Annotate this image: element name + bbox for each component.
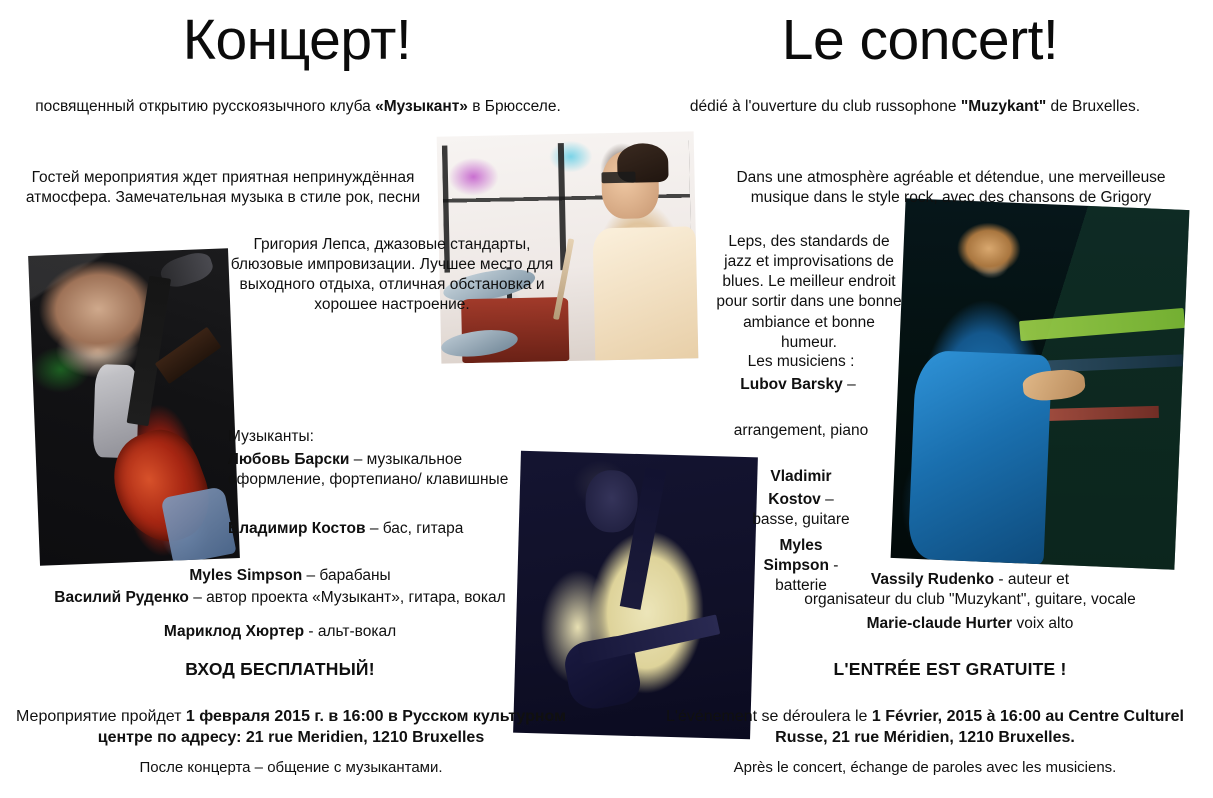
- glasses-shape: [602, 171, 636, 183]
- musician-name: Vladimir: [770, 468, 831, 485]
- musician-name: Vassily Rudenko: [871, 571, 994, 588]
- photo-guitarist: [24, 244, 244, 570]
- musician-role-fr-lubov: arrangement, piano: [706, 421, 896, 441]
- music-paragraph-ru: Григория Лепса, джазовые стандарты, блюз…: [222, 235, 562, 316]
- musician-row-fr-marie: Marie-claude Hurter voix alto: [740, 614, 1200, 634]
- musician-role: – бас, гитара: [370, 520, 464, 537]
- musician-role-2: organisateur du club "Muzykant", guitare…: [804, 591, 1136, 608]
- musician-name: Myles: [779, 537, 822, 554]
- musician-dash: –: [821, 491, 834, 508]
- event-details-prefix: L'événement se déroulera le: [666, 708, 872, 725]
- guitar-neck-shape: [155, 327, 222, 384]
- concert-poster: Концерт! посвященный открытию русскоязыч…: [0, 0, 1213, 798]
- intro-paragraph-ru: Гостей мероприятия ждет приятная неприну…: [8, 168, 438, 208]
- photo-pianist-image: [891, 198, 1190, 570]
- event-details-fr: L'événement se déroulera le 1 Février, 2…: [640, 707, 1210, 749]
- lead-fr-plain: dédié à l'ouverture du club russophone: [690, 98, 961, 115]
- after-concert-ru: После концерта – общение с музыкантами.: [6, 758, 576, 778]
- lead-paragraph-fr: dédié à l'ouverture du club russophone "…: [630, 97, 1200, 117]
- musician-row-fr-kostov: Kostov –basse, guitare: [706, 490, 896, 530]
- guitar-neck-shape: [577, 614, 720, 664]
- musician-name: Василий Руденко: [54, 589, 189, 606]
- photo-guitarist-image: [28, 248, 240, 565]
- page-title-fr: Le concert!: [700, 12, 1140, 69]
- club-name-ru: «Музыкант»: [375, 98, 468, 115]
- free-entry-ru: ВХОД БЕСПЛАТНЫЙ!: [20, 658, 540, 681]
- musicians-heading-fr: Les musiciens :: [706, 352, 896, 372]
- guitar-strap-shape: [127, 275, 172, 425]
- event-details-ru: Мероприятие пройдет 1 февраля 2015 г. в …: [6, 707, 576, 749]
- musician-name: Myles Simpson: [189, 567, 302, 584]
- musician-row-ru-1: Любовь Барски – музыкальное оформление, …: [228, 450, 514, 490]
- photo-pianist: [886, 194, 1193, 574]
- musician-name: Владимир Костов: [228, 520, 370, 537]
- lead-ru-plain: посвященный открытию русскоязычного клуб…: [35, 98, 375, 115]
- page-title-ru: Концерт!: [62, 12, 532, 69]
- musician-row-ru-4: Василий Руденко – автор проекта «Музыкан…: [0, 588, 560, 608]
- musician-row-ru-5: Мариклод Хюртер - альт-вокал: [20, 622, 540, 642]
- musician-dash: –: [843, 376, 856, 393]
- musician-role: – барабаны: [302, 567, 390, 584]
- musician-name: Lubov Barsky: [740, 376, 843, 393]
- club-name-fr: "Muzykant": [961, 98, 1046, 115]
- after-concert-fr: Après le concert, échange de paroles ave…: [640, 758, 1210, 778]
- musician-row-fr-vassily: Vassily Rudenko - auteur etorganisateur …: [740, 570, 1200, 610]
- musicians-heading-ru: Музыканты:: [228, 427, 528, 447]
- piano-music-stand-shape: [1019, 308, 1185, 341]
- jeans-shape: [161, 486, 237, 565]
- event-details-prefix: Мероприятие пройдет: [16, 708, 186, 725]
- musician-role: basse, guitare: [752, 511, 849, 528]
- musician-name: Мариклод Хюртер: [164, 623, 304, 640]
- music-paragraph-fr: Leps, des standards de jazz et improvisa…: [714, 232, 904, 353]
- intro-paragraph-fr: Dans une atmosphère agréable et détendue…: [716, 168, 1186, 208]
- musician-role: – автор проекта «Музыкант», гитара, вока…: [189, 589, 506, 606]
- musician-name: Любовь Барски: [228, 451, 349, 468]
- musician-row-ru-2: Владимир Костов – бас, гитара: [228, 519, 528, 539]
- musician-row-fr-vladimir: Vladimir: [706, 467, 896, 487]
- musician-role: voix alto: [1012, 615, 1073, 632]
- tshirt-shape: [593, 227, 699, 361]
- musician-role: - альт-вокал: [304, 623, 396, 640]
- musician-name: Kostov: [768, 491, 821, 508]
- free-entry-fr: L'ENTRÉE EST GRATUITE !: [700, 658, 1200, 681]
- lead-fr-tail: de Bruxelles.: [1046, 98, 1140, 115]
- lead-ru-tail: в Брюсселе.: [468, 98, 561, 115]
- musician-row-fr-lubov: Lubov Barsky –: [700, 375, 896, 395]
- lead-paragraph-ru: посвященный открытию русскоязычного клуб…: [28, 97, 568, 117]
- musician-row-ru-3: Myles Simpson – барабаны: [60, 566, 520, 586]
- musician-name: Marie-claude Hurter: [867, 615, 1013, 632]
- head-shape: [585, 469, 639, 532]
- musician-role: - auteur et: [994, 571, 1069, 588]
